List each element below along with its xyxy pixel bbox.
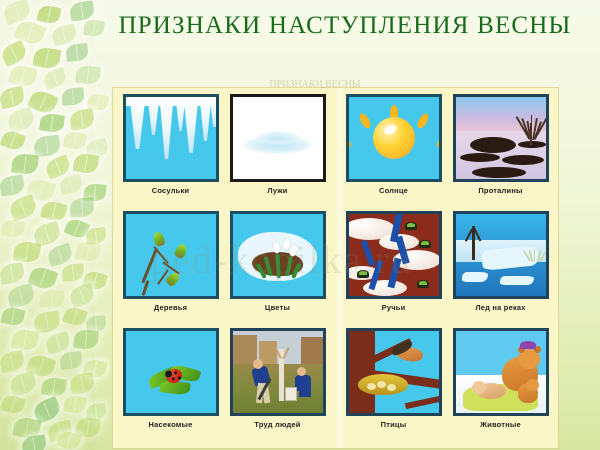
card-artwork: [233, 97, 323, 179]
leaf-icon: [36, 4, 61, 25]
card-caption: Лед на реках: [475, 303, 525, 312]
card-thumbnail-bird-nest: [346, 328, 442, 416]
egg-1: [367, 383, 376, 390]
leaf-icon: [50, 23, 78, 46]
card-thumbnail-puddles: [230, 94, 326, 182]
icicle-shape: [160, 97, 174, 159]
leaf-icon: [41, 376, 67, 397]
card-thumbnail-icicles: [123, 94, 219, 182]
bare-tree-trunk: [530, 123, 532, 145]
picture-card[interactable]: Труд людей: [227, 328, 328, 443]
bud-shape-2: [173, 242, 188, 259]
leaf-icon: [33, 135, 61, 158]
soil-patch-2: [460, 153, 500, 162]
poster-sheet: СосулькиЛужиДеревьяЦветыНасекомыеТруд лю…: [113, 88, 558, 448]
egg-3: [387, 384, 396, 391]
card-caption: Животные: [480, 420, 521, 429]
picture-card[interactable]: Животные: [450, 328, 551, 443]
card-thumbnail-snowdrops: [230, 211, 326, 299]
card-artwork: [349, 331, 439, 413]
leaf-icon: [69, 0, 95, 21]
card-grid-left: СосулькиЛужиДеревьяЦветыНасекомыеТруд лю…: [113, 88, 335, 448]
bud-shape-1: [152, 231, 166, 247]
picture-card[interactable]: Птицы: [343, 328, 444, 443]
leaf-icon: [69, 372, 96, 395]
grass-tuft-2: [419, 240, 431, 248]
leaf-icon: [61, 87, 84, 105]
leaf-icon: [75, 65, 101, 85]
card-thumbnail-ladybug: [123, 328, 219, 416]
leaf-icon: [6, 283, 36, 309]
soil-patch-3: [502, 155, 544, 165]
leaf-icon: [33, 310, 62, 333]
leaf-icon: [65, 43, 89, 62]
leaf-icon: [73, 329, 99, 350]
bear-mother-hat: [520, 341, 536, 349]
card-caption: Солнце: [379, 186, 408, 195]
card-artwork: [233, 214, 323, 296]
leaf-icon: [0, 40, 29, 67]
panel-left: СосулькиЛужиДеревьяЦветыНасекомыеТруд лю…: [113, 88, 335, 448]
card-artwork: [456, 97, 546, 179]
leaf-icon: [39, 112, 65, 133]
leaf-icon: [42, 67, 68, 90]
card-thumbnail-bears: [453, 328, 549, 416]
card-caption: Труд людей: [254, 420, 300, 429]
card-caption: Лужи: [267, 186, 287, 195]
soil-patch-1: [470, 137, 516, 153]
card-artwork: [126, 97, 216, 179]
leaf-icon: [10, 328, 39, 352]
leaf-icon: [0, 86, 26, 110]
soil-patch-4: [472, 167, 526, 178]
leaf-icon: [0, 262, 25, 285]
ladybug-spot-1: [173, 371, 177, 375]
picture-card[interactable]: Деревья: [120, 211, 221, 326]
ladybug-spot-2: [171, 377, 175, 381]
picture-card[interactable]: Проталины: [450, 94, 551, 209]
leaf-icon: [58, 174, 83, 195]
tree-branch-3: [404, 395, 441, 409]
leaf-icon: [13, 240, 42, 263]
ladybug-spot-3: [177, 376, 181, 380]
picture-card[interactable]: Цветы: [227, 211, 328, 326]
card-caption: Птицы: [381, 420, 407, 429]
leaf-icon: [63, 394, 88, 415]
card-thumbnail-tree-buds: [123, 211, 219, 299]
worker-girl-head: [297, 367, 306, 376]
worker-boy-head: [253, 359, 263, 369]
icicle-ridge: [126, 97, 216, 106]
card-caption: Насекомые: [149, 420, 193, 429]
grass-tuft-1: [405, 222, 417, 230]
egg-2: [377, 381, 386, 388]
sun-ray-2: [435, 135, 442, 150]
leaf-border: [0, 0, 110, 450]
card-thumbnail-thawed-patches: [453, 94, 549, 182]
grass-tuft-4: [417, 280, 429, 288]
leaf-icon: [74, 240, 101, 264]
paint-bucket: [285, 387, 297, 401]
worker-girl-legs: [299, 389, 311, 397]
leaf-icon: [39, 289, 65, 309]
sun-ray-1: [415, 112, 430, 130]
picture-card[interactable]: Сосульки: [120, 94, 221, 209]
card-artwork: [349, 214, 439, 296]
card-thumbnail-people-working: [230, 328, 326, 416]
leaf-icon: [32, 46, 61, 70]
sun-ray-10: [346, 135, 353, 150]
branch-stem: [141, 249, 157, 283]
sun-gloss: [383, 123, 399, 137]
ice-floe-2: [462, 272, 488, 282]
card-caption: Сосульки: [152, 186, 189, 195]
page-title: ПРИЗНАКИ НАСТУПЛЕНИЯ ВЕСНЫ: [95, 10, 595, 41]
leaf-icon: [0, 350, 26, 374]
card-artwork: [233, 331, 323, 413]
card-artwork: [126, 331, 216, 413]
leaf-icon: [6, 106, 37, 133]
card-caption: Проталины: [478, 186, 522, 195]
leaf-icon: [62, 130, 87, 151]
leaf-icon: [0, 393, 26, 415]
leaf-icon: [1, 218, 26, 239]
leaf-icon: [8, 370, 39, 397]
grass-tuft-3: [357, 270, 369, 278]
card-caption: Ручьи: [382, 303, 406, 312]
picture-card[interactable]: Насекомые: [120, 328, 221, 443]
card-thumbnail-sun: [346, 94, 442, 182]
leaf-icon: [0, 174, 25, 196]
leaf-icon: [0, 129, 26, 152]
card-artwork: [126, 214, 216, 296]
reed-2: [534, 250, 536, 262]
panel-right: СолнцеПроталиныРучьиЛед на рекахПтицыЖив…: [336, 88, 558, 448]
puddle-shape-2: [256, 131, 301, 144]
bear-sleeping-head: [472, 381, 486, 394]
leaf-icon: [59, 351, 83, 370]
soil-patch-5: [518, 141, 546, 148]
leaf-icon: [11, 153, 39, 176]
ice-floe-3: [500, 276, 534, 285]
leaf-icon: [62, 305, 88, 328]
picture-card[interactable]: Лед на реках: [450, 211, 551, 326]
picture-card[interactable]: Солнце: [343, 94, 444, 209]
leaf-icon: [8, 63, 39, 89]
leaf-icon: [69, 197, 94, 218]
card-caption: Цветы: [265, 303, 290, 312]
card-thumbnail-river-ice: [453, 211, 549, 299]
leaf-icon: [0, 306, 25, 327]
card-artwork: [349, 97, 439, 179]
card-artwork: [456, 214, 546, 296]
leaf-icon: [61, 263, 84, 281]
card-grid-right: СолнцеПроталиныРучьиЛед на рекахПтицыЖив…: [336, 88, 558, 448]
sun-core: [373, 117, 415, 159]
leaf-icon: [69, 108, 96, 131]
card-thumbnail-streams: [346, 211, 442, 299]
card-artwork: [456, 331, 546, 413]
leaf-icon: [40, 199, 68, 222]
picture-card[interactable]: Ручьи: [343, 211, 444, 326]
sun-ray-11: [357, 112, 372, 130]
picture-card[interactable]: Лужи: [227, 94, 328, 209]
leaf-icon: [73, 152, 100, 175]
bear-cub-head: [526, 379, 539, 391]
slide-canvas: ПРИЗНАКИ НАСТУПЛЕНИЯ ВЕСНЫ ПРИЗНАКИ ВЕСН…: [0, 0, 600, 450]
sky: [456, 97, 546, 134]
card-caption: Деревья: [154, 303, 187, 312]
